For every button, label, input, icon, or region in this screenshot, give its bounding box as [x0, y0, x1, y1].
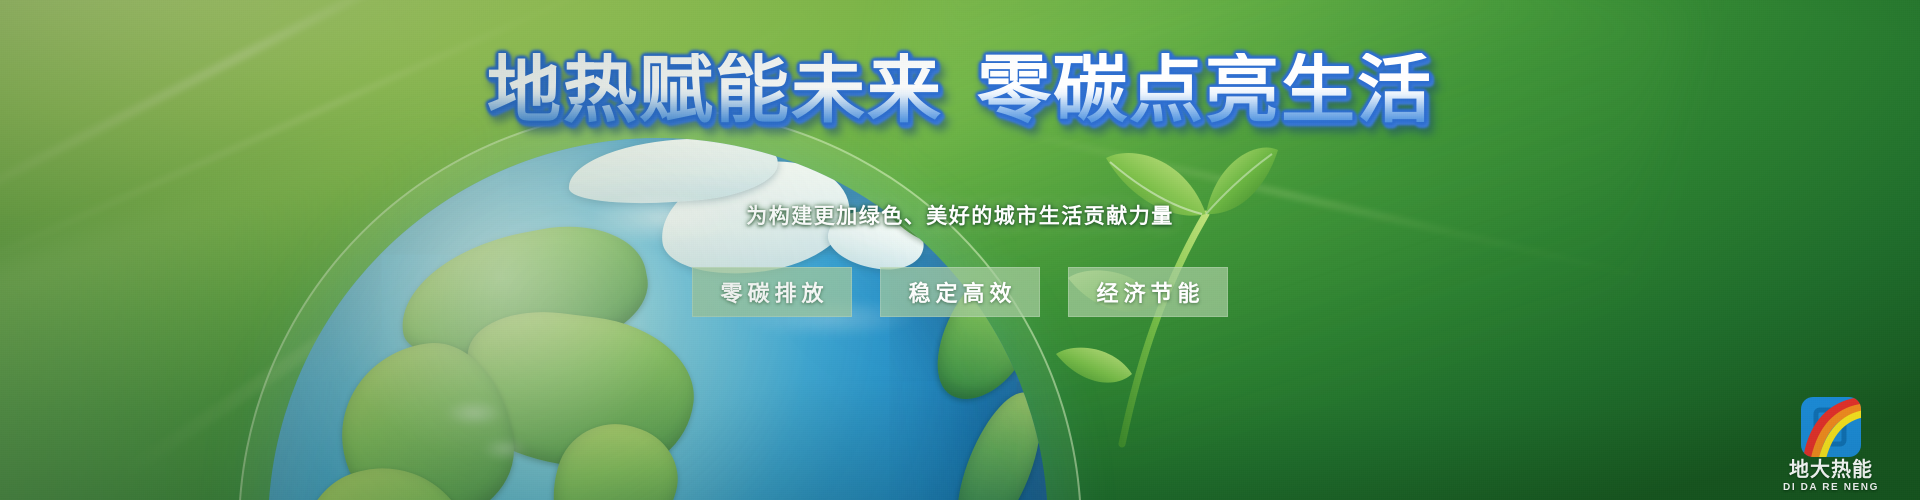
hero-banner: 地热赋能未来零碳点亮生活 为构建更加绿色、美好的城市生活贡献力量 零碳排放 稳定…: [0, 0, 1920, 500]
background-texture: [0, 0, 1920, 500]
